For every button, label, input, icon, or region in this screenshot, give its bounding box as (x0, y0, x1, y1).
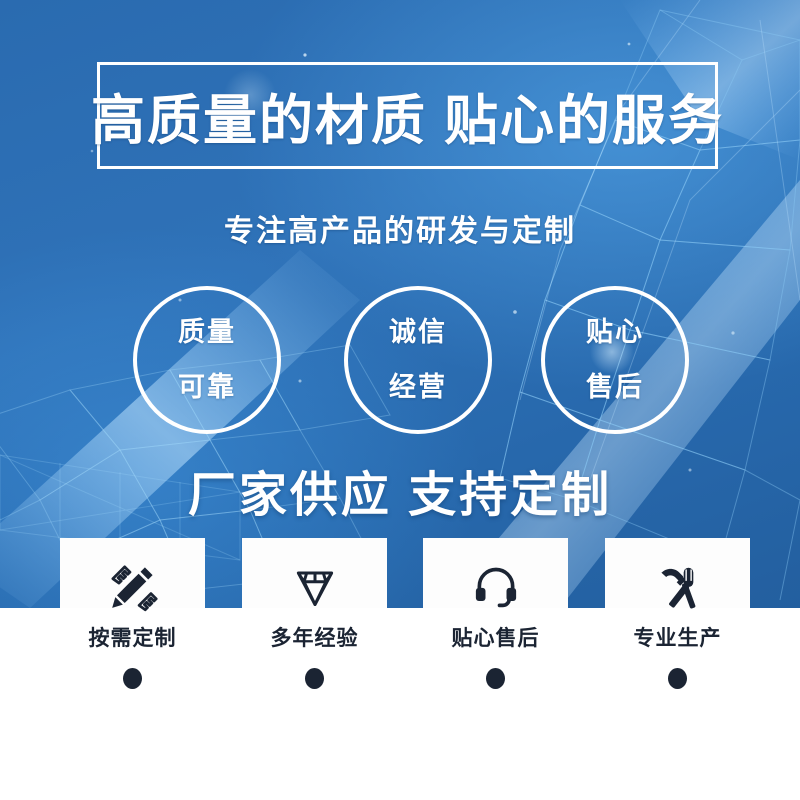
feature-circle-integrity: 诚信 经营 (344, 286, 492, 434)
feature-label: 多年经验 (242, 622, 387, 652)
pencil-ruler-icon (60, 552, 205, 622)
feature-label: 贴心售后 (423, 622, 568, 652)
hammer-screwdriver-icon (605, 552, 750, 622)
diamond-icon (242, 552, 387, 622)
feature-bullet-dot (242, 668, 387, 689)
circle-line-bottom: 可靠 (178, 374, 236, 401)
feature-circle-group: 质量 可靠 诚信 经营 贴心 售后 (0, 286, 800, 436)
feature-label: 按需定制 (60, 622, 205, 652)
circle-line-top: 诚信 (389, 319, 447, 346)
circle-line-bottom: 售后 (586, 374, 644, 401)
promo-banner: 高质量的材质 贴心的服务 专注高产品的研发与定制 质量 可靠 诚信 经营 贴心 … (0, 0, 800, 800)
headset-icon (423, 552, 568, 622)
page-title: 高质量的材质 贴心的服务 (97, 62, 718, 169)
circle-line-top: 质量 (178, 319, 236, 346)
feature-bullet-dot (423, 668, 568, 689)
circle-line-top: 贴心 (586, 319, 644, 346)
subtitle: 专注高产品的研发与定制 (0, 206, 800, 250)
feature-circle-aftersales: 贴心 售后 (541, 286, 689, 434)
slogan: 厂家供应 支持定制 (0, 455, 800, 525)
circle-line-bottom: 经营 (389, 374, 447, 401)
feature-circle-quality: 质量 可靠 (133, 286, 281, 434)
feature-bullet-dot (605, 668, 750, 689)
feature-label: 专业生产 (605, 622, 750, 652)
feature-bullet-dot (60, 668, 205, 689)
